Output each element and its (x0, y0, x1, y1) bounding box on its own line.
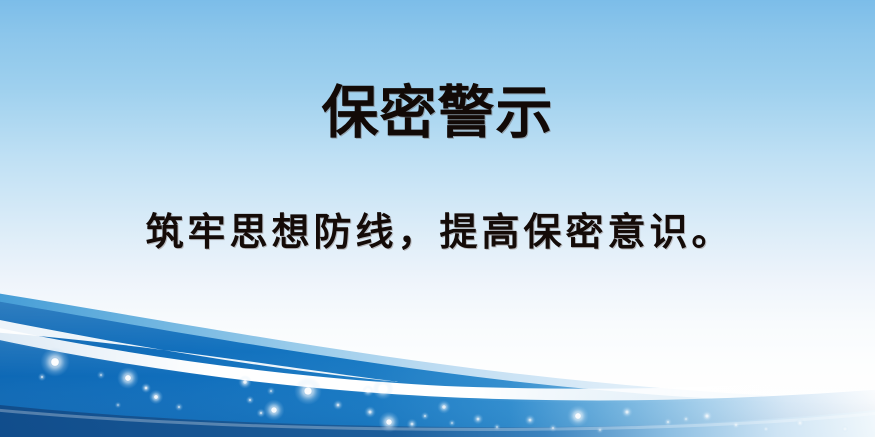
page-title: 保密警示 (0, 82, 875, 144)
text-layer: 保密警示 筑牢思想防线，提高保密意识。 (0, 0, 875, 437)
secrecy-warning-banner: 保密警示 筑牢思想防线，提高保密意识。 (0, 0, 875, 437)
page-subtitle: 筑牢思想防线，提高保密意识。 (0, 208, 875, 256)
